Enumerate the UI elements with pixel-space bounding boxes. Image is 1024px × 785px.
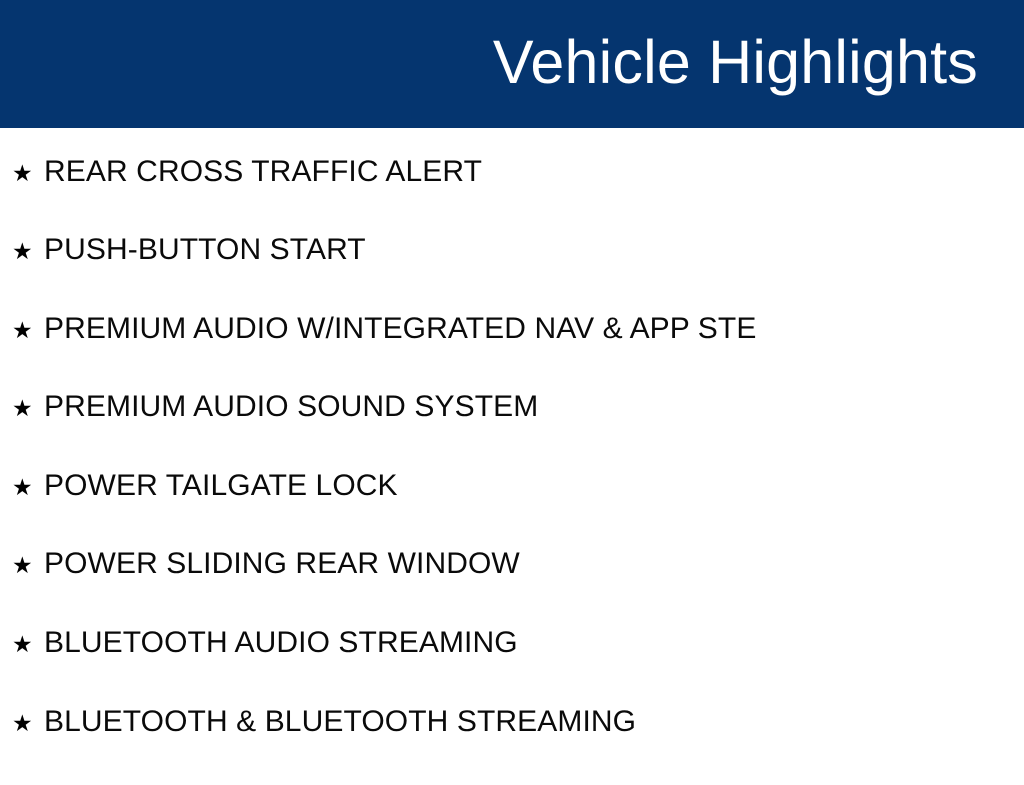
vehicle-highlights-list: ★ REAR CROSS TRAFFIC ALERT ★ PUSH-BUTTON… <box>0 128 1024 785</box>
list-item: ★ PREMIUM AUDIO W/INTEGRATED NAV & APP S… <box>0 314 1024 393</box>
list-item: ★ PREMIUM AUDIO SOUND SYSTEM <box>0 392 1024 471</box>
list-item: ★ POWER SLIDING REAR WINDOW <box>0 549 1024 628</box>
list-item-label: POWER TAILGATE LOCK <box>44 471 1024 501</box>
list-item-label: REAR CROSS TRAFFIC ALERT <box>44 157 1024 187</box>
list-item-label: POWER SLIDING REAR WINDOW <box>44 549 1024 579</box>
star-icon: ★ <box>12 713 44 736</box>
star-icon: ★ <box>12 320 44 343</box>
list-item: ★ BLUETOOTH & BLUETOOTH STREAMING <box>0 707 1024 785</box>
list-item: ★ POWER TAILGATE LOCK <box>0 471 1024 550</box>
star-icon: ★ <box>12 241 44 264</box>
star-icon: ★ <box>12 477 44 500</box>
list-item: ★ BLUETOOTH AUDIO STREAMING <box>0 628 1024 707</box>
star-icon: ★ <box>12 163 44 186</box>
list-item-label: BLUETOOTH AUDIO STREAMING <box>44 628 1024 658</box>
star-icon: ★ <box>12 634 44 657</box>
vehicle-highlights-slide: Vehicle Highlights ★ REAR CROSS TRAFFIC … <box>0 0 1024 768</box>
list-item: ★ PUSH-BUTTON START <box>0 235 1024 314</box>
list-item-label: PREMIUM AUDIO SOUND SYSTEM <box>44 392 1024 422</box>
list-item-label: PREMIUM AUDIO W/INTEGRATED NAV & APP STE <box>44 314 1024 344</box>
star-icon: ★ <box>12 398 44 421</box>
list-item-label: PUSH-BUTTON START <box>44 235 1024 265</box>
list-item: ★ REAR CROSS TRAFFIC ALERT <box>0 128 1024 235</box>
page-title: Vehicle Highlights <box>493 32 978 97</box>
star-icon: ★ <box>12 555 44 578</box>
header-banner: Vehicle Highlights <box>0 0 1024 128</box>
list-item-label: BLUETOOTH & BLUETOOTH STREAMING <box>44 707 1024 737</box>
